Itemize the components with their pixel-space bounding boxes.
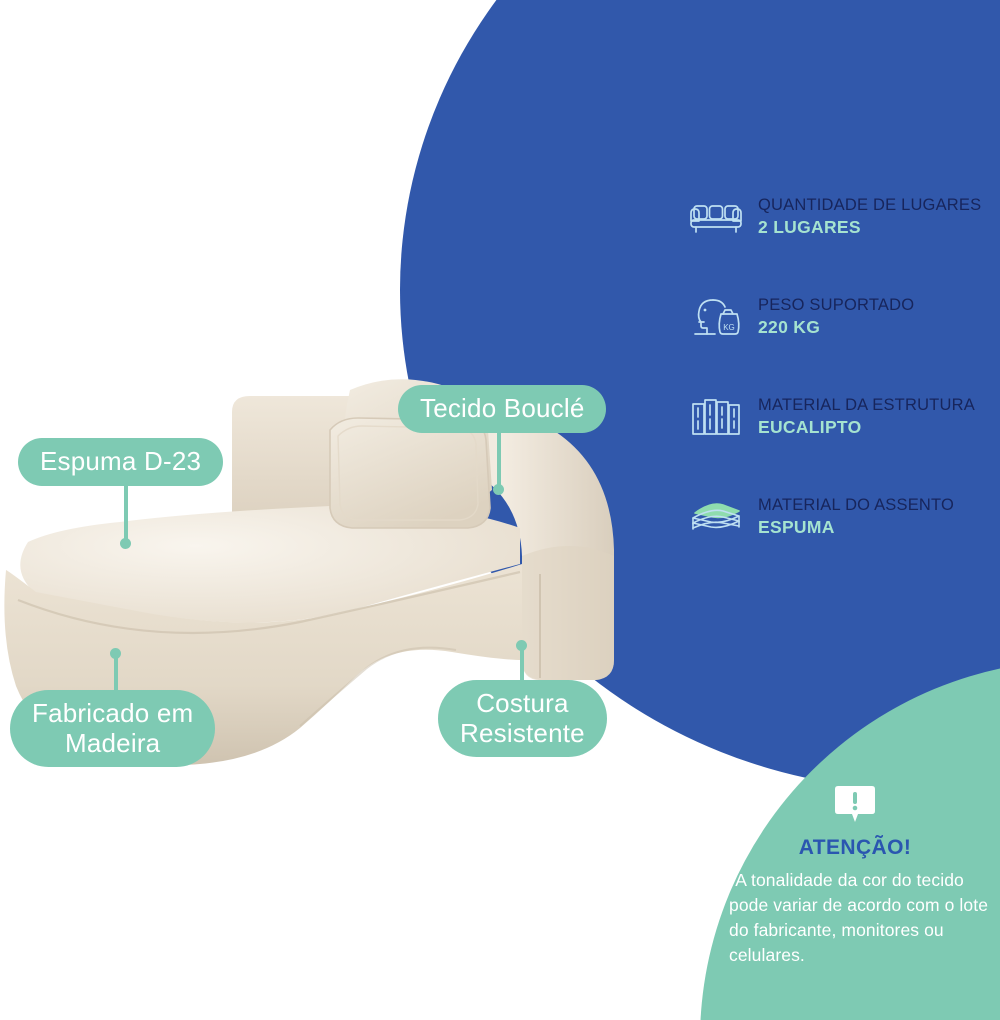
callout-dot-tecido [493, 484, 504, 495]
sofa-icon [688, 191, 744, 243]
attention-block: ATENÇÃO! •A tonalidade da cor do tecido … [715, 782, 995, 967]
spec-row-material-da-estrutura: MATERIAL DA ESTRUTURA EUCALIPTO [688, 378, 1000, 456]
spec-text-peso: PESO SUPORTADO 220 KG [758, 296, 914, 337]
wood-planks-icon [688, 391, 744, 443]
spec-text-quantidade: QUANTIDADE DE LUGARES 2 LUGARES [758, 196, 981, 237]
spec-label: QUANTIDADE DE LUGARES [758, 196, 981, 214]
attention-body: •A tonalidade da cor do tecido pode vari… [715, 868, 995, 967]
sofa-arm-shadow [522, 546, 614, 680]
attention-title: ATENÇÃO! [715, 836, 995, 860]
svg-text:KG: KG [723, 323, 735, 332]
spec-row-peso-suportado: KG PESO SUPORTADO 220 KG [688, 278, 1000, 356]
sofa-pillow-front [330, 418, 490, 528]
spec-label: MATERIAL DO ASSENTO [758, 496, 954, 514]
callout-leader-espuma [124, 486, 128, 544]
spec-value: EUCALIPTO [758, 418, 975, 438]
weight-capacity-icon: KG [688, 291, 744, 343]
callout-costura-resistente: Costura Resistente [438, 680, 607, 757]
callout-dot-madeira [110, 648, 121, 659]
spec-value: 2 LUGARES [758, 218, 981, 238]
callout-tecido-boucle: Tecido Bouclé [398, 385, 606, 433]
specification-list: QUANTIDADE DE LUGARES 2 LUGARES KG [688, 178, 1000, 578]
infographic-canvas: Espuma D-23 Tecido Bouclé Fabricado em M… [0, 0, 1000, 1020]
spec-label: PESO SUPORTADO [758, 296, 914, 314]
callout-fabricado-em-madeira: Fabricado em Madeira [10, 690, 215, 767]
spec-row-quantidade-de-lugares: QUANTIDADE DE LUGARES 2 LUGARES [688, 178, 1000, 256]
spec-label: MATERIAL DA ESTRUTURA [758, 396, 975, 414]
spec-value: ESPUMA [758, 518, 954, 538]
spec-text-estrutura: MATERIAL DA ESTRUTURA EUCALIPTO [758, 396, 975, 437]
spec-value: 220 KG [758, 318, 914, 338]
spec-text-assento: MATERIAL DO ASSENTO ESPUMA [758, 496, 954, 537]
attention-text: A tonalidade da cor do tecido pode varia… [729, 870, 988, 965]
exclamation-bubble-icon [832, 782, 878, 828]
callout-leader-tecido [497, 430, 501, 490]
foam-layers-icon [688, 491, 744, 543]
spec-row-material-do-assento: MATERIAL DO ASSENTO ESPUMA [688, 478, 1000, 556]
callout-dot-costura [516, 640, 527, 651]
callout-dot-espuma [120, 538, 131, 549]
callout-espuma-d23: Espuma D-23 [18, 438, 223, 486]
